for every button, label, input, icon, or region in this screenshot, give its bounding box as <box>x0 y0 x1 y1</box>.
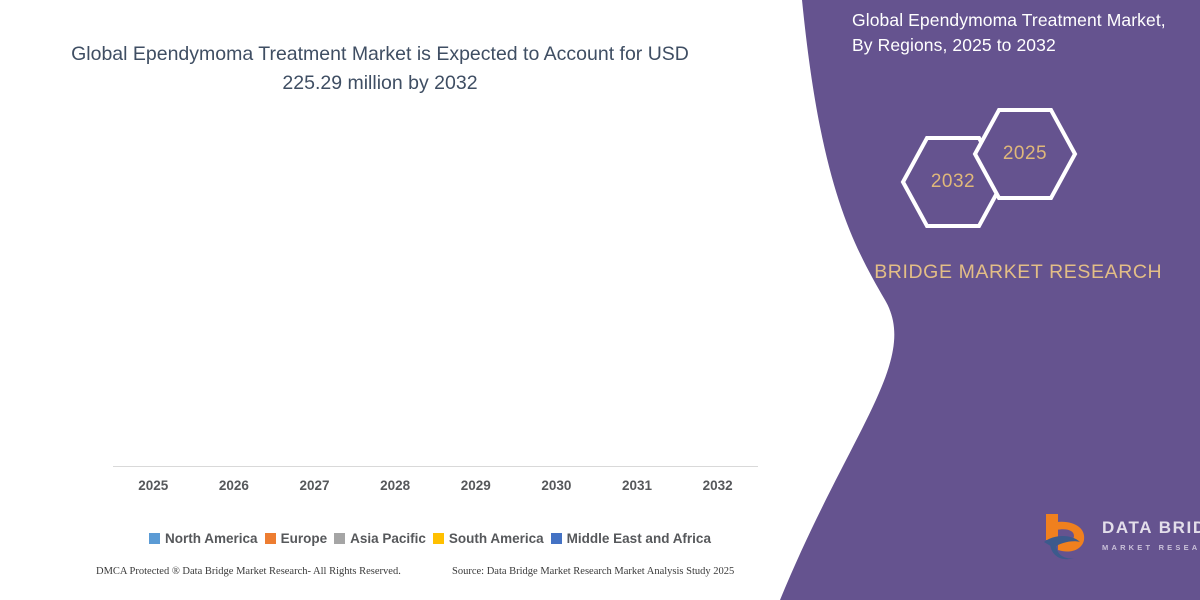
x-axis-label: 2031 <box>597 478 678 493</box>
x-axis-label: 2026 <box>194 478 275 493</box>
company-logo: DATA BRIDGE MARKET RESEARCH <box>1040 510 1200 572</box>
legend-label: South America <box>449 531 544 546</box>
bar-column <box>113 140 194 466</box>
panel-title: Global Ependymoma Treatment Market, By R… <box>852 8 1182 59</box>
bar-group <box>113 140 758 466</box>
chart-title: Global Ependymoma Treatment Market is Ex… <box>60 40 700 99</box>
bar-column <box>194 140 275 466</box>
logo-text-block: DATA BRIDGE MARKET RESEARCH <box>1102 518 1200 552</box>
x-axis-label: 2032 <box>677 478 758 493</box>
bar-column <box>597 140 678 466</box>
right-purple-panel: Global Ependymoma Treatment Market, By R… <box>780 0 1200 600</box>
chart-legend: North AmericaEuropeAsia PacificSouth Ame… <box>100 531 760 546</box>
legend-swatch-icon <box>551 533 562 544</box>
x-axis-label: 2030 <box>516 478 597 493</box>
footer-source: Source: Data Bridge Market Research Mark… <box>452 566 734 577</box>
hexagon-front-label: 2025 <box>973 108 1077 200</box>
logo-mark-icon <box>1040 510 1098 566</box>
hexagon-badge-front: 2025 <box>973 108 1077 200</box>
x-axis-label: 2028 <box>355 478 436 493</box>
legend-label: Europe <box>281 531 328 546</box>
x-axis-line <box>113 466 758 468</box>
legend-item[interactable]: North America <box>149 531 258 546</box>
legend-item[interactable]: South America <box>433 531 544 546</box>
bar-column <box>677 140 758 466</box>
legend-item[interactable]: Asia Pacific <box>334 531 426 546</box>
logo-title: DATA BRIDGE <box>1102 518 1200 538</box>
legend-item[interactable]: Europe <box>265 531 328 546</box>
footer: DMCA Protected ® Data Bridge Market Rese… <box>0 566 790 590</box>
brand-name: DATA BRIDGE MARKET RESEARCH <box>810 258 1170 287</box>
legend-label: North America <box>165 531 258 546</box>
x-axis-label: 2027 <box>274 478 355 493</box>
infographic-root: Global Ependymoma Treatment Market is Ex… <box>0 0 1200 600</box>
legend-label: Asia Pacific <box>350 531 426 546</box>
legend-swatch-icon <box>334 533 345 544</box>
x-axis-labels: 20252026202720282029203020312032 <box>113 478 758 493</box>
legend-label: Middle East and Africa <box>567 531 711 546</box>
plot-area <box>113 140 758 467</box>
logo-subtitle: MARKET RESEARCH <box>1102 543 1200 552</box>
legend-item[interactable]: Middle East and Africa <box>551 531 711 546</box>
legend-swatch-icon <box>433 533 444 544</box>
bar-column <box>355 140 436 466</box>
footer-copyright: DMCA Protected ® Data Bridge Market Rese… <box>96 566 401 577</box>
bar-column <box>436 140 517 466</box>
legend-swatch-icon <box>149 533 160 544</box>
hexagon-badges: 2032 2025 <box>885 108 1085 228</box>
chart-panel: Global Ependymoma Treatment Market is Ex… <box>0 0 800 600</box>
bar-column <box>274 140 355 466</box>
x-axis-label: 2025 <box>113 478 194 493</box>
legend-swatch-icon <box>265 533 276 544</box>
x-axis-label: 2029 <box>436 478 517 493</box>
bar-column <box>516 140 597 466</box>
